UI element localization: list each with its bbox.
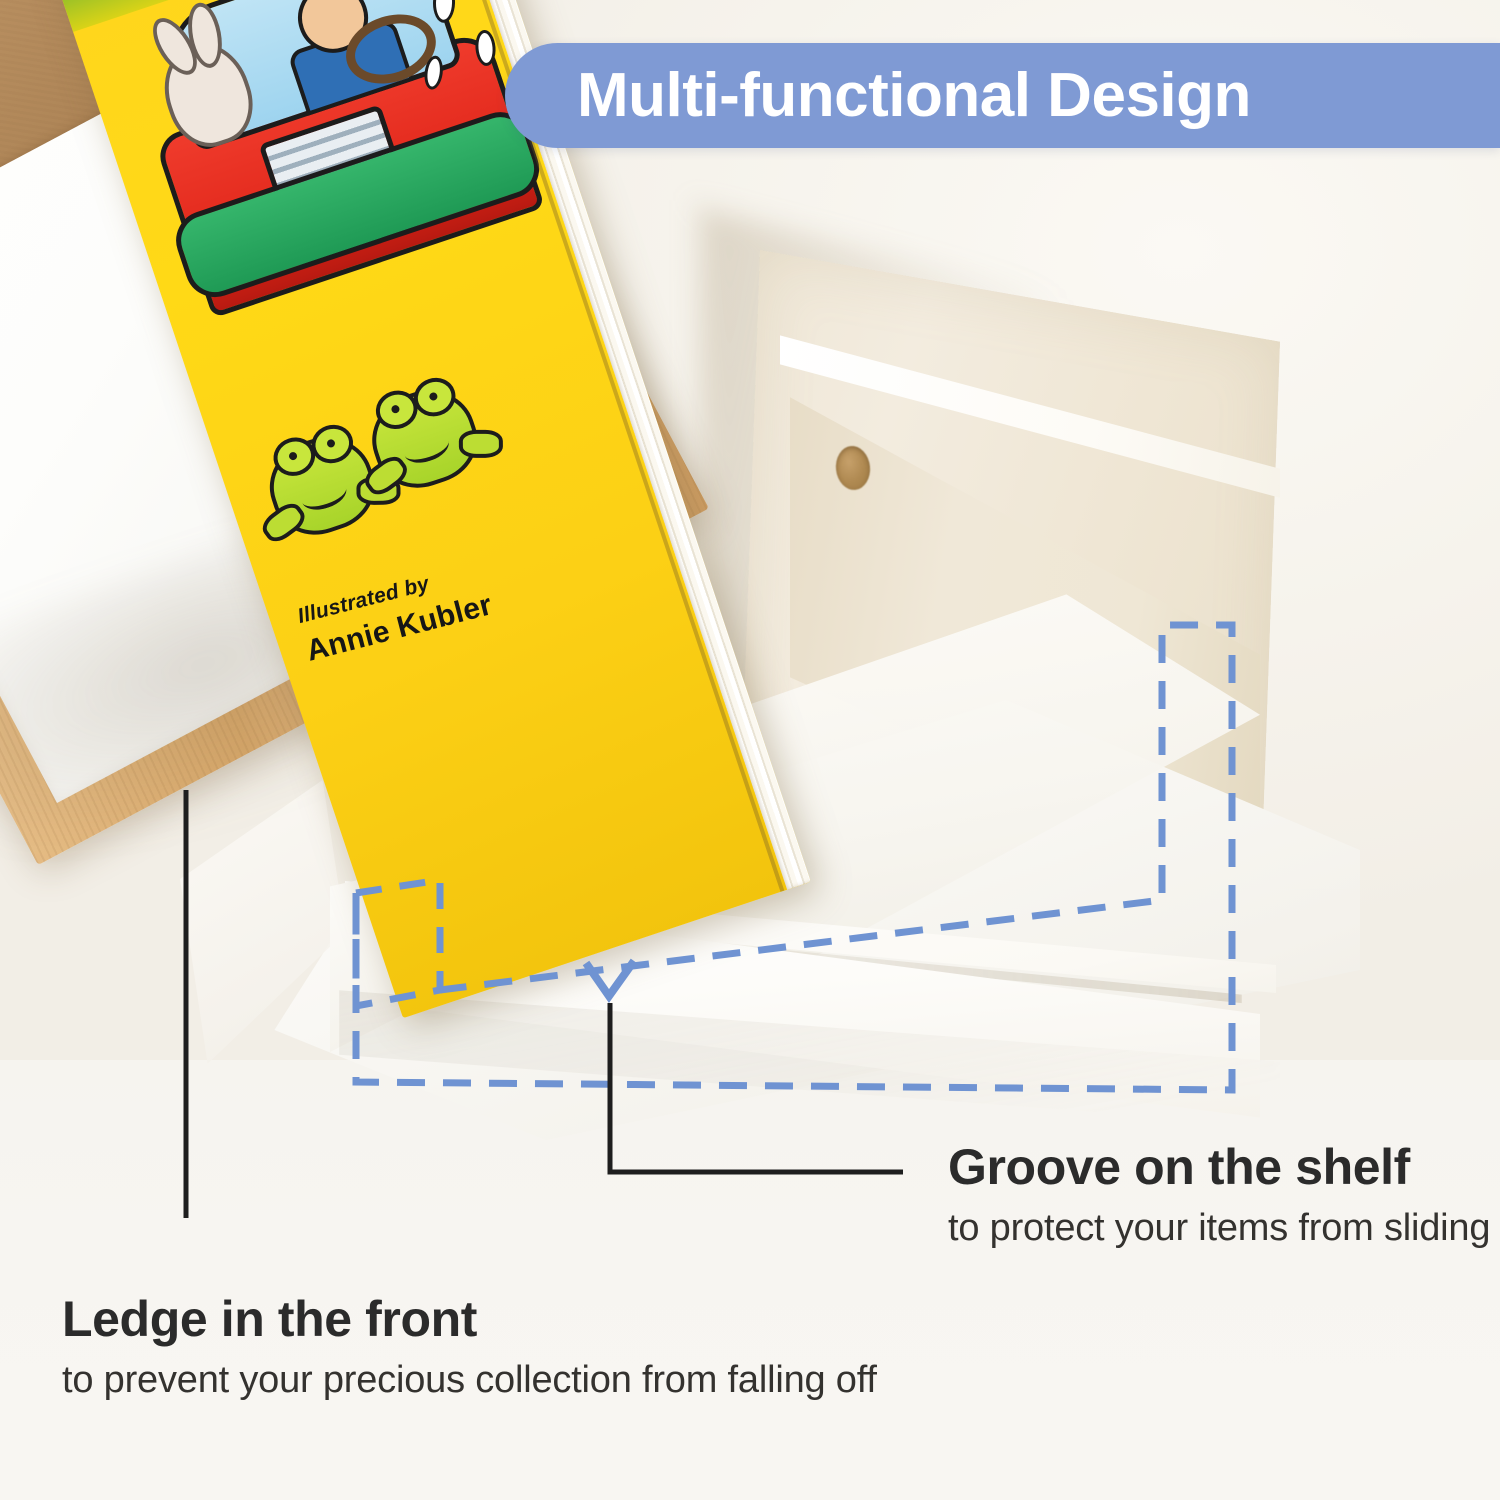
product-photo: Illustrated by Annie Kubler (0, 0, 1500, 1500)
frog-smile (401, 429, 453, 468)
callout-groove: Groove on the shelf to protect your item… (948, 1140, 1500, 1252)
lower-background (0, 1060, 1500, 1500)
banner-pill: Multi-functional Design (505, 43, 1500, 148)
callout-ledge-subtitle: to prevent your precious collection from… (62, 1358, 877, 1404)
frog-leg-right (459, 430, 503, 458)
book-frog-right (360, 377, 488, 499)
infographic-canvas: Illustrated by Annie Kubler Multi-functi… (0, 0, 1500, 1500)
callout-groove-subtitle: to protect your items from sliding forwa… (948, 1206, 1500, 1252)
banner-title: Multi-functional Design (577, 60, 1251, 131)
frog-smile (298, 476, 350, 515)
book-frog-illustration (241, 329, 535, 579)
callout-ledge: Ledge in the front to prevent your preci… (62, 1292, 877, 1404)
frog-leg-left (258, 498, 310, 547)
callout-groove-title: Groove on the shelf (948, 1140, 1500, 1194)
callout-ledge-title: Ledge in the front (62, 1292, 877, 1346)
